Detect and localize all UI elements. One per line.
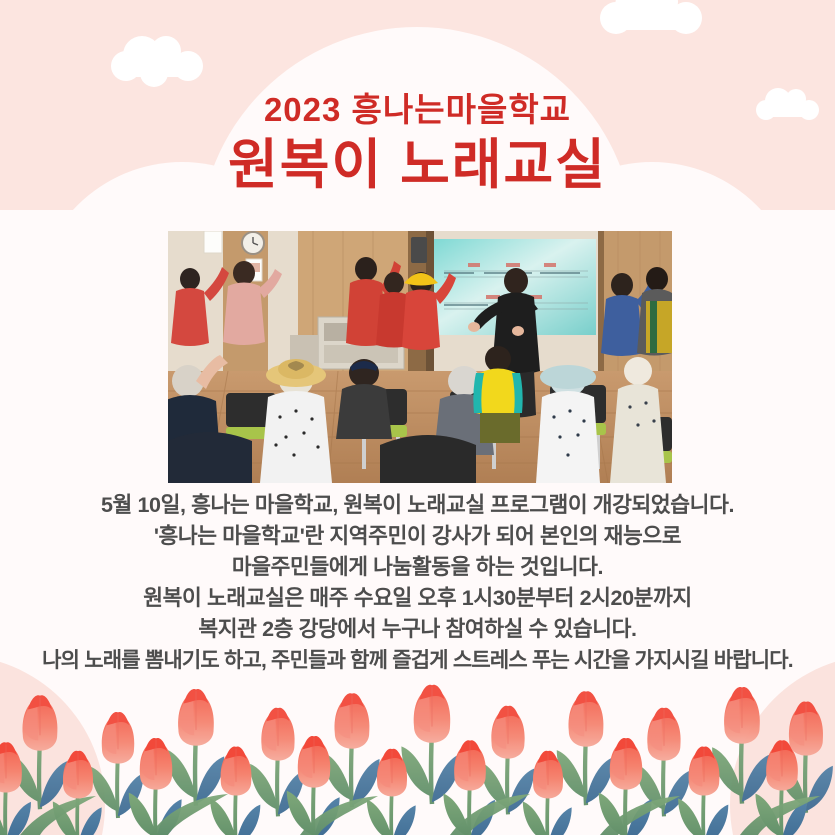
page-title: 원복이 노래교실 [0,134,835,196]
program-photo [168,231,672,483]
headline-block: 2023 흥나는마을학교 원복이 노래교실 [0,92,835,196]
poster-canvas: 2023 흥나는마을학교 원복이 노래교실 [0,0,835,835]
body-line: 마을주민들에게 나눔활동을 하는 것입니다. [0,552,835,583]
body-line: 나의 노래를 뽐내기도 하고, 주민들과 함께 즐겁게 스트레스 푸는 시간을 … [0,645,835,676]
body-copy-block: 5월 10일, 흥나는 마을학교, 원복이 노래교실 프로그램이 개강되었습니다… [0,490,835,676]
body-line: '흥나는 마을학교'란 지역주민이 강사가 되어 본인의 재능으로 [0,521,835,552]
body-line: 5월 10일, 흥나는 마을학교, 원복이 노래교실 프로그램이 개강되었습니다… [0,490,835,521]
photo-illustration [168,231,672,483]
headline-subtitle: 2023 흥나는마을학교 [0,92,835,128]
body-line: 원복이 노래교실은 매주 수요일 오후 1시30분부터 2시20분까지 [0,583,835,614]
body-line: 복지관 2층 강당에서 누구나 참여하실 수 있습니다. [0,614,835,645]
